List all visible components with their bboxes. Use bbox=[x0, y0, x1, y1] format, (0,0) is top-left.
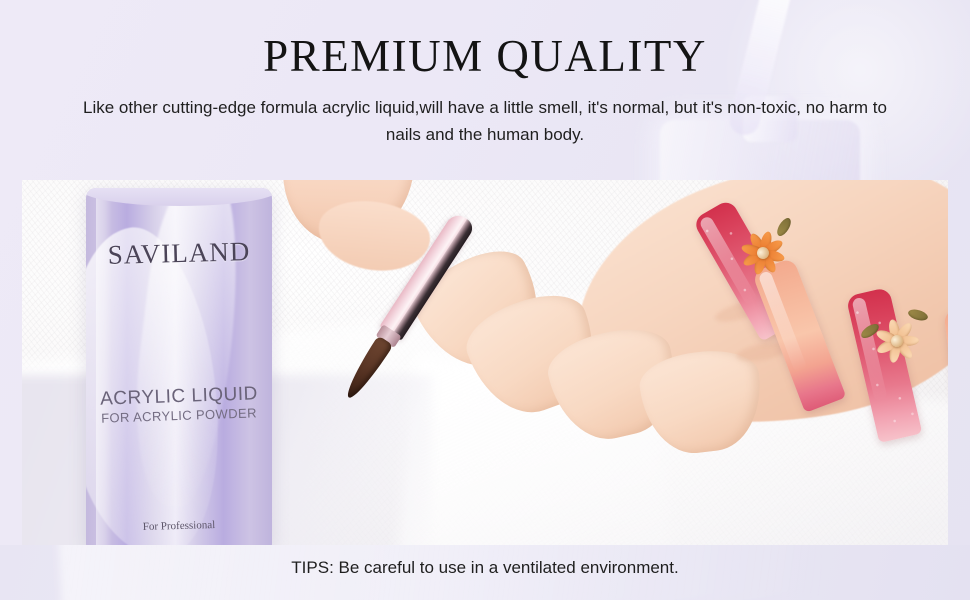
tips-band: TIPS: Be careful to use in a ventilated … bbox=[0, 545, 970, 600]
product-photo: SAVILAND ACRYLIC LIQUID FOR ACRYLIC POWD… bbox=[22, 180, 948, 545]
bottle-top-curve bbox=[86, 188, 272, 206]
tips-text: TIPS: Be careful to use in a ventilated … bbox=[0, 558, 970, 578]
page-title: PREMIUM QUALITY bbox=[0, 30, 970, 82]
bottle-brand-name: SAVILAND bbox=[86, 236, 272, 272]
heading-block: PREMIUM QUALITY Like other cutting-edge … bbox=[0, 30, 970, 148]
product-banner: PREMIUM QUALITY Like other cutting-edge … bbox=[0, 0, 970, 600]
acrylic-liquid-bottle: SAVILAND ACRYLIC LIQUID FOR ACRYLIC POWD… bbox=[86, 188, 272, 545]
page-subtitle: Like other cutting-edge formula acrylic … bbox=[65, 94, 905, 148]
